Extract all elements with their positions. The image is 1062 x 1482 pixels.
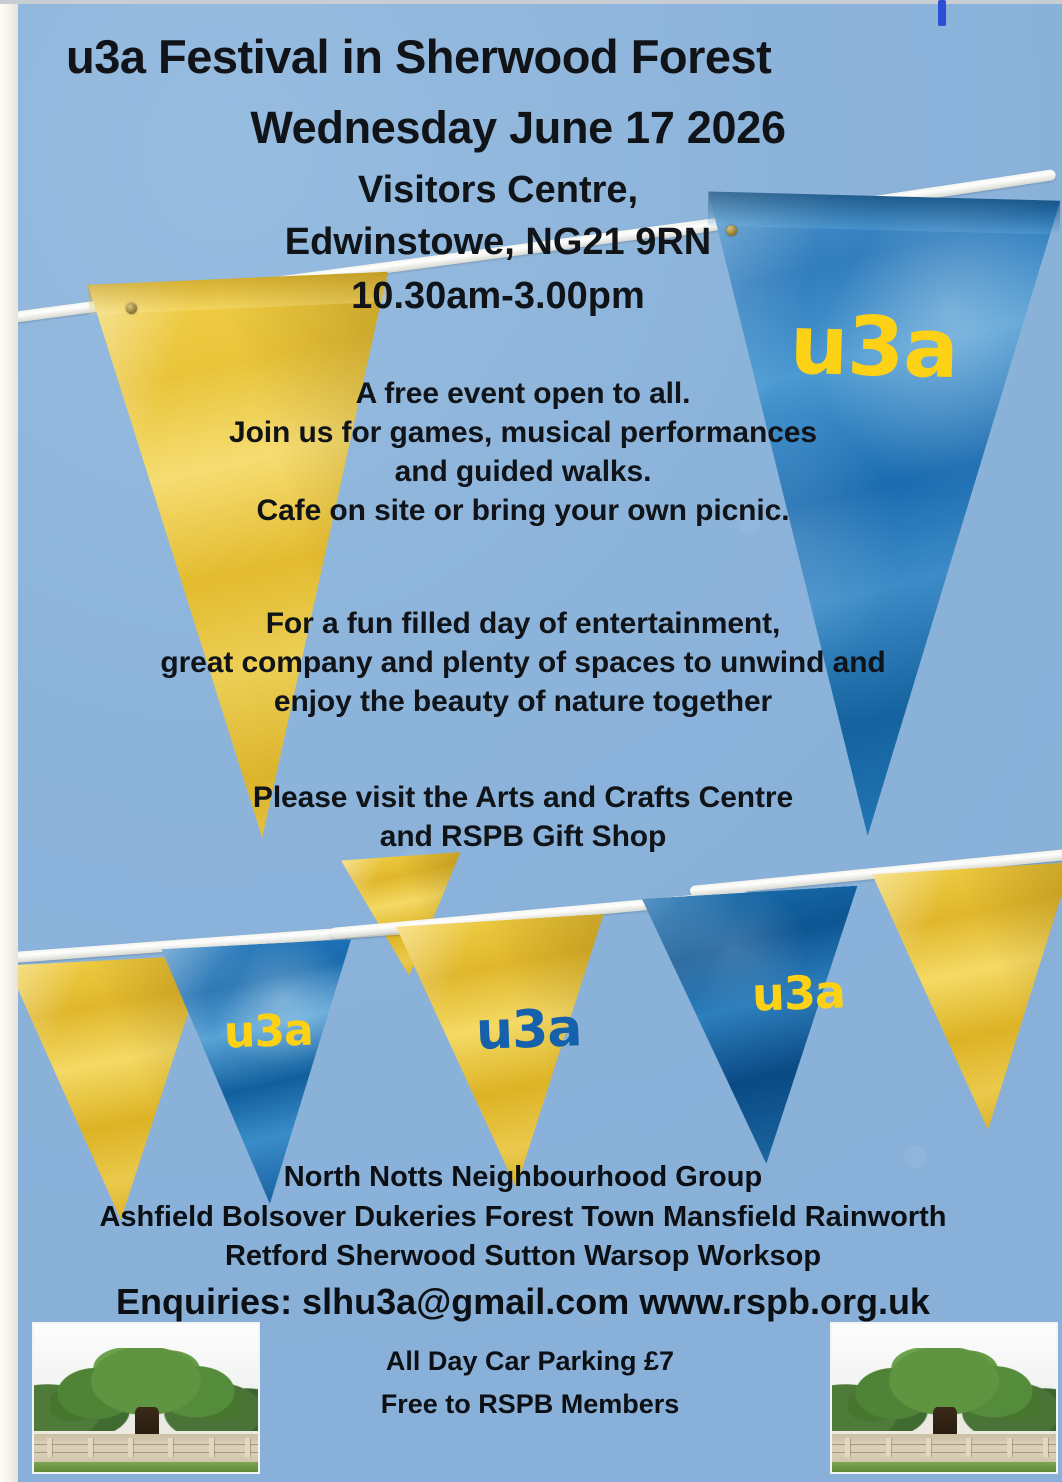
fence-post: [168, 1438, 173, 1457]
fence-post: [966, 1438, 971, 1457]
body-paragraph-1: A free event open to all. Join us for ga…: [18, 374, 1028, 530]
fence-post: [245, 1438, 250, 1457]
fence-rail: [832, 1449, 1056, 1452]
bunting-flag-blue-2: [642, 886, 874, 1171]
text-cursor-caret: [938, 0, 946, 26]
fence-post: [47, 1438, 52, 1457]
fence-post: [128, 1438, 133, 1457]
fence-post: [88, 1438, 93, 1457]
venue-line-1: Visitors Centre,: [18, 170, 978, 210]
body-line: For a fun filled day of entertainment,: [18, 604, 1028, 643]
flag-cloth: [88, 272, 412, 845]
fence-rail: [832, 1441, 1056, 1444]
body-line: Join us for games, musical performances: [18, 413, 1028, 452]
body-line: and RSPB Gift Shop: [18, 817, 1028, 856]
bunting-flag-yellow-large: [88, 272, 412, 845]
major-oak-photo-left: [32, 1322, 260, 1474]
flag-cloth: [872, 862, 1062, 1136]
contact-line: Enquiries: slhu3a@gmail.com www.rspb.org…: [18, 1278, 1028, 1326]
parking-line-1: All Day Car Parking £7: [240, 1340, 820, 1383]
towns-line-2: Retford Sherwood Sutton Warsop Worksop: [18, 1237, 1028, 1276]
body-line: and guided walks.: [18, 452, 1028, 491]
parking-line-2: Free to RSPB Members: [240, 1383, 820, 1426]
organiser-group-name: North Notts Neighbourhood Group: [18, 1158, 1028, 1197]
fence-rail: [34, 1449, 258, 1452]
fence-post: [209, 1438, 214, 1457]
fence-post: [926, 1438, 931, 1457]
major-oak-photo-right: [830, 1322, 1058, 1474]
body-line: Cafe on site or bring your own picnic.: [18, 491, 1028, 530]
flag-cloth: [642, 886, 874, 1171]
bunting-flag-yellow-3: [872, 862, 1062, 1136]
poster-date: Wednesday June 17 2026: [18, 104, 1018, 152]
fence-rail: [34, 1441, 258, 1444]
page-top-edge: [0, 0, 1062, 4]
body-line: A free event open to all.: [18, 374, 1028, 413]
u3a-logo-small-2: u3a: [475, 998, 582, 1062]
page-left-margin: [0, 0, 18, 1482]
photo-fence: [34, 1438, 258, 1457]
u3a-logo-small-3: u3a: [751, 964, 846, 1021]
fence-post: [886, 1438, 891, 1457]
towns-line-1: Ashfield Bolsover Dukeries Forest Town M…: [18, 1198, 1028, 1237]
photo-fence: [832, 1438, 1056, 1457]
body-paragraph-2: For a fun filled day of entertainment, g…: [18, 604, 1028, 721]
venue-line-2: Edwinstowe, NG21 9RN: [18, 222, 978, 262]
fence-post: [1043, 1438, 1048, 1457]
poster-root: u3a u3a u3a u3a u3a Festival in Sherwood…: [0, 0, 1062, 1482]
photo-grass: [832, 1462, 1056, 1472]
body-line: enjoy the beauty of nature together: [18, 682, 1028, 721]
fence-post: [845, 1438, 850, 1457]
member-towns: Ashfield Bolsover Dukeries Forest Town M…: [18, 1198, 1028, 1276]
fence-post: [1007, 1438, 1012, 1457]
u3a-logo-small-1: u3a: [223, 1004, 313, 1058]
photo-grass: [34, 1462, 258, 1472]
event-time: 10.30am-3.00pm: [18, 276, 978, 316]
body-line: great company and plenty of spaces to un…: [18, 643, 1028, 682]
poster-title: u3a Festival in Sherwood Forest: [18, 32, 1062, 82]
parking-info: All Day Car Parking £7 Free to RSPB Memb…: [240, 1340, 820, 1426]
body-paragraph-3: Please visit the Arts and Crafts Centre …: [18, 778, 1028, 856]
body-line: Please visit the Arts and Crafts Centre: [18, 778, 1028, 817]
